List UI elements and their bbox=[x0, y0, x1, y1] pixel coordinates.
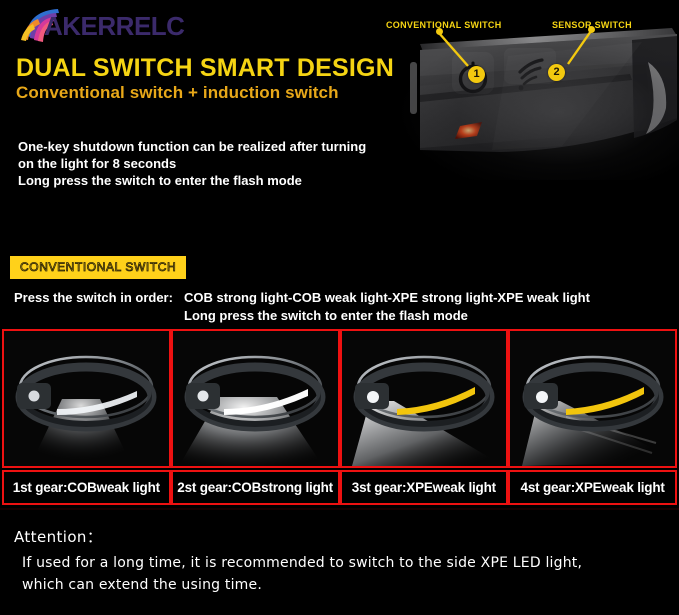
gear-cell: 2st gear:COBstrong light bbox=[171, 329, 340, 505]
hero-body-line: on the light for 8 seconds bbox=[18, 155, 378, 172]
gear-photo bbox=[340, 329, 509, 468]
attention-line: If used for a long time, it is recommend… bbox=[22, 552, 662, 574]
attention-body: If used for a long time, it is recommend… bbox=[22, 552, 662, 596]
callout-label-sensor-switch: SENSOR SWITCH bbox=[552, 20, 632, 30]
callout-badge-2: 2 bbox=[548, 64, 565, 81]
attention-line: which can extend the using time. bbox=[22, 574, 662, 596]
section-divider bbox=[0, 508, 679, 510]
gear-label: 2st gear:COBstrong light bbox=[171, 470, 340, 505]
brand-name: AKERRELC bbox=[44, 13, 184, 39]
gear-photo bbox=[2, 329, 171, 468]
gear-label: 3st gear:XPEweak light bbox=[340, 470, 509, 505]
hero-body-line: One-key shutdown function can be realize… bbox=[18, 138, 378, 155]
headband-illustration bbox=[518, 347, 668, 439]
gear-cell: 1st gear:COBweak light bbox=[2, 329, 171, 505]
gear-mode-grid: 1st gear:COBweak light 2st gear:COBstron… bbox=[2, 329, 677, 501]
hero-body-line: Long press the switch to enter the flash… bbox=[18, 172, 378, 189]
gear-photo bbox=[171, 329, 340, 468]
section-badge-conventional-switch: CONVENTIONAL SWITCH bbox=[10, 256, 186, 279]
headband-illustration bbox=[11, 347, 161, 439]
gear-photo bbox=[508, 329, 677, 468]
attention-title: Attention： bbox=[14, 526, 102, 547]
instruction-sequence: COB strong light-COB weak light-XPE stro… bbox=[184, 290, 590, 305]
callout-label-conventional-switch: CONVENTIONAL SWITCH bbox=[386, 20, 502, 30]
gear-label: 4st gear:XPEweak light bbox=[508, 470, 677, 505]
gear-label: 1st gear:COBweak light bbox=[2, 470, 171, 505]
page-subtitle: Conventional switch + induction switch bbox=[16, 84, 339, 101]
instruction-note: Long press the switch to enter the flash… bbox=[184, 308, 468, 323]
callout-badge-1: 1 bbox=[468, 66, 485, 83]
page-title: DUAL SWITCH SMART DESIGN bbox=[16, 56, 394, 81]
hero-body-copy: One-key shutdown function can be realize… bbox=[18, 138, 378, 189]
gear-cell: 4st gear:XPEweak light bbox=[508, 329, 677, 505]
instruction-label: Press the switch in order: bbox=[14, 290, 173, 305]
headband-illustration bbox=[180, 347, 330, 439]
brand-logo: AKERRELC bbox=[18, 6, 188, 46]
gear-cell: 3st gear:XPEweak light bbox=[340, 329, 509, 505]
headband-illustration bbox=[349, 347, 499, 439]
